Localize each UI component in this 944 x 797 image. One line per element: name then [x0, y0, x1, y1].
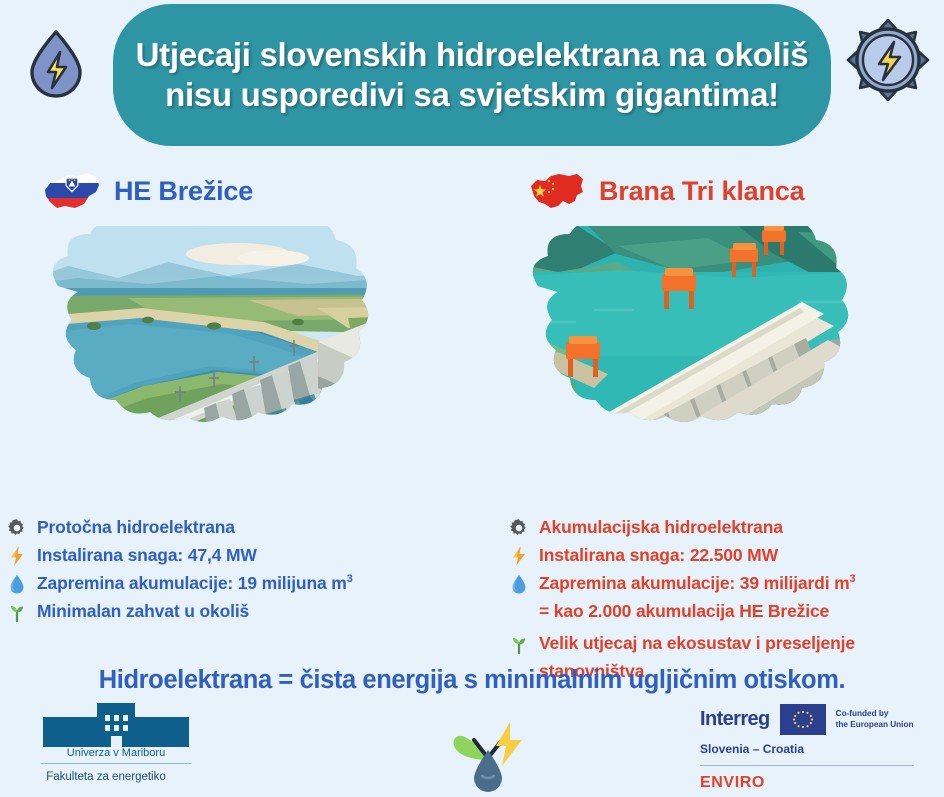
title-banner: Utjecaji slovenskih hidroelektrana na ok… [113, 4, 831, 146]
right-section-title: Brana Tri klanca [599, 176, 804, 207]
list-item: Akumulacijska hidroelektrana [508, 516, 944, 541]
interreg-top-row: Interreg Co- [700, 704, 936, 735]
footer: Univerza v Mariboru Fakulteta za energet… [0, 700, 944, 792]
infographic-canvas: Utjecaji slovenskih hidroelektrana na ok… [0, 0, 944, 792]
slovenia-flag-map-icon [40, 168, 104, 214]
left-section-title: HE Brežice [114, 176, 253, 207]
list-item: Instalirana snaga: 47,4 MW [6, 544, 476, 569]
tagline: Hidroelektrana = čista energija s minima… [0, 666, 944, 695]
divider [700, 765, 914, 766]
gear-icon [6, 517, 28, 541]
list-item-label: Protočna hidroelektrana [37, 516, 235, 538]
water-drop-lightning-icon [10, 14, 102, 106]
list-item-label: Instalirana snaga: 22.500 MW [539, 544, 778, 566]
list-item: Minimalan zahvat u okoliš [6, 600, 476, 625]
eu-funding-text: Co-funded by the European Union [836, 709, 914, 731]
right-bullet-list: Akumulacijska hidroelektrana Instalirana… [508, 516, 944, 683]
list-item-label: Velik utjecaj na ekosustav i preseljenje [539, 632, 855, 654]
water-drop-icon [508, 573, 530, 597]
list-item-label: Zapremina akumulacije: 19 milijuna m3 [37, 572, 353, 594]
sprout-droplet-lightning-icon [440, 700, 536, 792]
university-faculty: Fakulteta za energetiko [26, 771, 186, 783]
page-title: Utjecaji slovenskih hidroelektrana na ok… [113, 35, 831, 116]
european-union-flag-icon [780, 704, 826, 735]
list-item: Instalirana snaga: 22.500 MW [508, 544, 944, 569]
list-item-second-line: = kao 2.000 akumulacija HE Brežice [539, 600, 944, 622]
university-logo: Univerza v Mariboru Fakulteta za energet… [26, 703, 206, 783]
water-drop-icon [6, 573, 28, 597]
right-section-header: Brana Tri klanca [525, 168, 804, 214]
list-item-label: Instalirana snaga: 47,4 MW [37, 544, 257, 566]
eu-funding-line1: Co-funded by [836, 709, 889, 718]
lightning-icon [6, 545, 28, 569]
list-item-label: Akumulacijska hidroelektrana [539, 516, 783, 538]
list-item-label: Zapremina akumulacije: 39 milijardi m3 [539, 572, 855, 594]
eu-funding-line2: the European Union [836, 720, 914, 729]
interreg-wordmark: Interreg [700, 708, 770, 731]
list-item: Protočna hidroelektrana [6, 516, 476, 541]
turbine-gear-lightning-icon [842, 14, 934, 106]
interreg-logo: Interreg Co- [700, 704, 936, 792]
gear-icon [508, 517, 530, 541]
lightning-icon [508, 545, 530, 569]
left-section-header: HE Brežice [40, 168, 253, 214]
list-item: Velik utjecaj na ekosustav i preseljenje [508, 632, 944, 657]
university-building-icon [41, 703, 191, 747]
list-item: Zapremina akumulacije: 39 milijardi m3 [508, 572, 944, 597]
china-flag-map-icon [525, 168, 589, 214]
sprout-icon [508, 633, 530, 657]
three-gorges-gravity-dam-illustration [498, 226, 930, 504]
interreg-programme: Slovenia – Croatia [700, 742, 936, 756]
list-item: Zapremina akumulacije: 19 milijuna m3 [6, 572, 476, 597]
sprout-icon [6, 601, 28, 625]
left-bullet-list: Protočna hidroelektrana Instalirana snag… [6, 516, 476, 628]
list-item-label: Minimalan zahvat u okoliš [37, 600, 249, 622]
university-name: Univerza v Mariboru [41, 747, 191, 764]
project-name: ENVIRO [700, 774, 936, 792]
header: Utjecaji slovenskih hidroelektrana na ok… [0, 0, 944, 158]
run-of-river-dam-aerial-illustration [18, 226, 450, 504]
